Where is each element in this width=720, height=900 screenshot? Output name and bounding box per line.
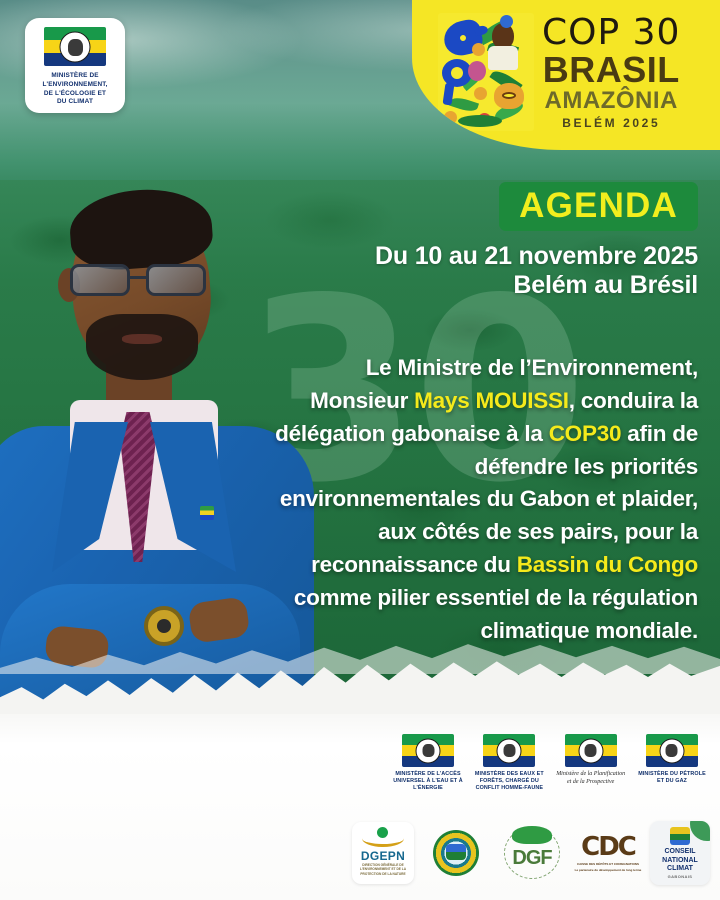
paragraph-segment-4: comme pilier essentiel de la régulation … <box>294 585 698 643</box>
highlight-cop30: COP30 <box>549 421 622 446</box>
gabon-flag-seal-icon <box>483 734 535 767</box>
ministry-logo-petroleum-gas: MINISTÈRE DU PÉTROLE ET DU GAZ <box>636 734 708 785</box>
agenda-label: AGENDA <box>519 186 678 225</box>
agenda-badge: AGENDA <box>499 182 698 231</box>
ministry-badge-line4: DU CLIMAT <box>43 98 108 107</box>
agenda-dates-line1: Du 10 au 21 novembre 2025 <box>375 242 698 271</box>
announcement-paragraph: Le Ministre de l’Environnement, Monsieur… <box>268 352 698 648</box>
minister-portrait <box>0 176 304 736</box>
cop30-region: AMAZÔNIA <box>545 89 678 113</box>
cnc-subtitle: GABONAIS <box>668 874 693 879</box>
poster-root: 30 COP 30 BRASIL AMAZÔNIA BELÉM 2025 <box>0 0 720 900</box>
cnc-line2: NATIONAL <box>662 857 698 866</box>
ministry-logo-planning: Ministère de la Planification et de la P… <box>555 734 627 787</box>
partner-logos-row: DGEPN DIRECTION GÉNÉRALE DE L'ENVIRONNEM… <box>352 820 710 886</box>
ministry-logo-water-energy: MINISTÈRE DE L'ACCÈS UNIVERSEL À L'EAU E… <box>392 734 464 792</box>
partner-logo-anpn <box>422 822 490 884</box>
agenda-dates-line2: Belém au Brésil <box>375 271 698 300</box>
gabon-coat-of-arms-icon <box>670 827 690 845</box>
ministry-logo-caption: MINISTÈRE DU PÉTROLE ET DU GAZ <box>636 771 708 785</box>
cop30-artwork-icon <box>438 13 534 131</box>
cop30-logo-band: COP 30 BRASIL AMAZÔNIA BELÉM 2025 <box>412 0 720 150</box>
ministry-badge-line1: MINISTÈRE DE <box>43 72 108 81</box>
gabon-flag-seal-icon <box>646 734 698 767</box>
flag-lapel-pin-icon <box>200 506 214 520</box>
highlight-bassin-du-congo: Bassin du Congo <box>517 552 698 577</box>
ministry-logo-water-forests: MINISTÈRE DES EAUX ET FORÊTS, CHARGÉ DU … <box>473 734 545 792</box>
cdc-tagline: Le partenaire du développement de long t… <box>575 868 642 872</box>
partner-logo-conseil-national-climat: CONSEIL NATIONAL CLIMAT GABONAIS <box>650 821 710 885</box>
gabon-flag-seal-icon <box>565 734 617 767</box>
gabon-flag-seal-icon <box>44 27 106 66</box>
ministry-logo-caption: MINISTÈRE DE L'ACCÈS UNIVERSEL À L'EAU E… <box>392 771 464 792</box>
gabon-flag-seal-icon <box>402 734 454 767</box>
partner-logo-dgf: DGF <box>498 822 566 884</box>
agenda-block: AGENDA Du 10 au 21 novembre 2025 Belém a… <box>375 182 698 301</box>
wristwatch-icon <box>144 606 184 646</box>
forest-tree-icon <box>512 826 552 844</box>
dgepn-swoosh-icon <box>362 830 404 847</box>
ministry-logo-caption: Ministère de la Planification et de la P… <box>555 771 627 787</box>
ministry-badge-line2: L'ENVIRONNEMENT, <box>43 81 108 90</box>
cdc-acronym: CDC <box>581 834 635 860</box>
cnc-line3: CLIMAT <box>662 865 698 874</box>
ministry-logo-caption: MINISTÈRE DES EAUX ET FORÊTS, CHARGÉ DU … <box>473 771 545 792</box>
cop30-country: BRASIL <box>543 52 680 88</box>
ministry-logos-row: MINISTÈRE DE L'ACCÈS UNIVERSEL À L'EAU E… <box>392 734 708 792</box>
cdc-subtitle: CAISSE DES DÉPÔTS ET CONSIGNATIONS <box>577 862 639 866</box>
dgepn-acronym: DGEPN <box>361 849 405 863</box>
partner-logo-cdc: CDC CAISSE DES DÉPÔTS ET CONSIGNATIONS L… <box>574 822 642 884</box>
cnc-line1: CONSEIL <box>662 848 698 857</box>
ministry-environment-badge: MINISTÈRE DE L'ENVIRONNEMENT, DE L'ÉCOLO… <box>25 18 125 113</box>
cop30-city-year: BELÉM 2025 <box>562 117 660 129</box>
eyeglasses-icon <box>68 264 216 298</box>
dgepn-subtitle: DIRECTION GÉNÉRALE DE L'ENVIRONNEMENT ET… <box>352 863 414 875</box>
cop30-title: COP 30 <box>542 15 680 51</box>
highlight-minister-name: Mays MOUISSI <box>414 388 569 413</box>
partner-logo-dgepn: DGEPN DIRECTION GÉNÉRALE DE L'ENVIRONNEM… <box>352 822 414 884</box>
agency-circular-seal-icon <box>433 830 479 876</box>
ministry-badge-line3: DE L'ÉCOLOGIE ET <box>43 90 108 99</box>
